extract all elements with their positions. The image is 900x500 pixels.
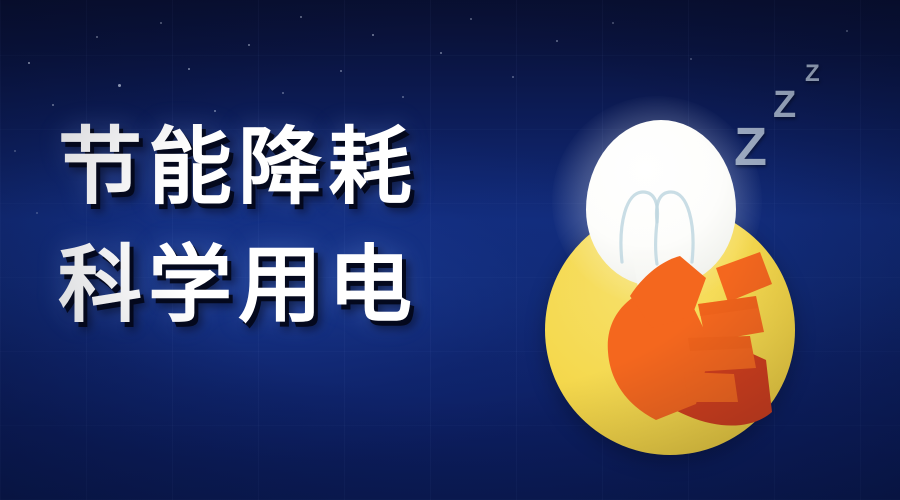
vignette-overlay xyxy=(0,0,900,500)
poster-canvas: 节能降耗 科学用电 xyxy=(0,0,900,500)
